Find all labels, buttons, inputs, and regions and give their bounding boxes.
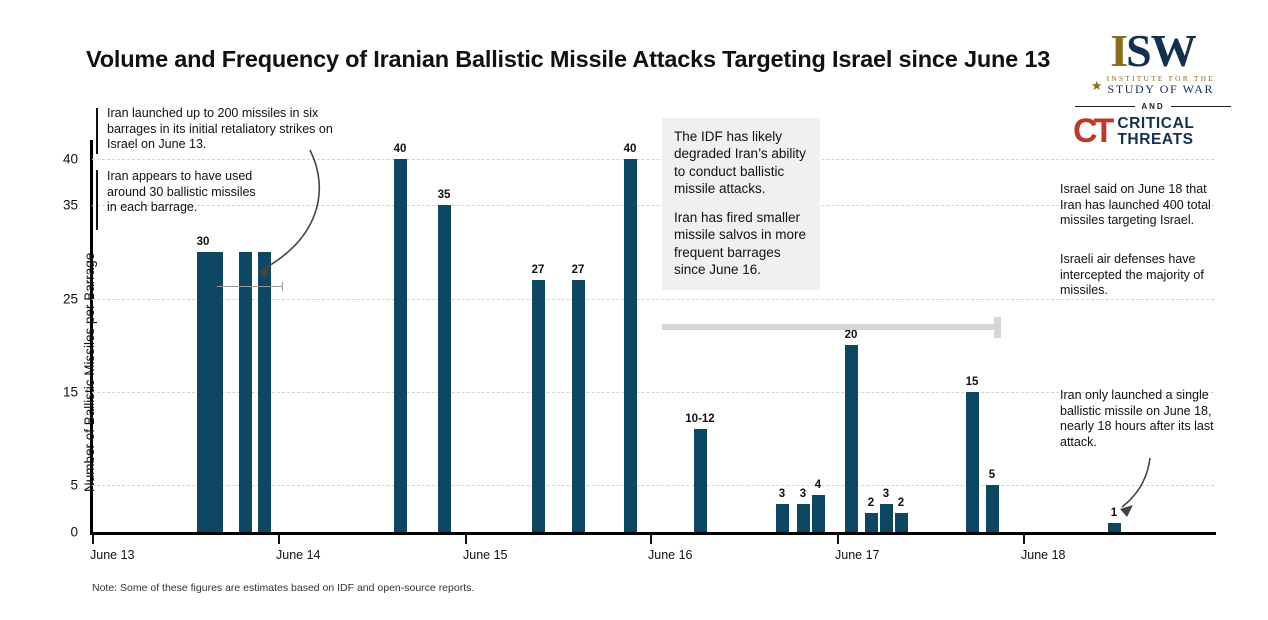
chart-note: Note: Some of these figures are estimate… <box>92 582 474 594</box>
chart-page: Volume and Frequency of Iranian Ballisti… <box>0 0 1268 620</box>
callout-arrow-right <box>0 0 1268 620</box>
